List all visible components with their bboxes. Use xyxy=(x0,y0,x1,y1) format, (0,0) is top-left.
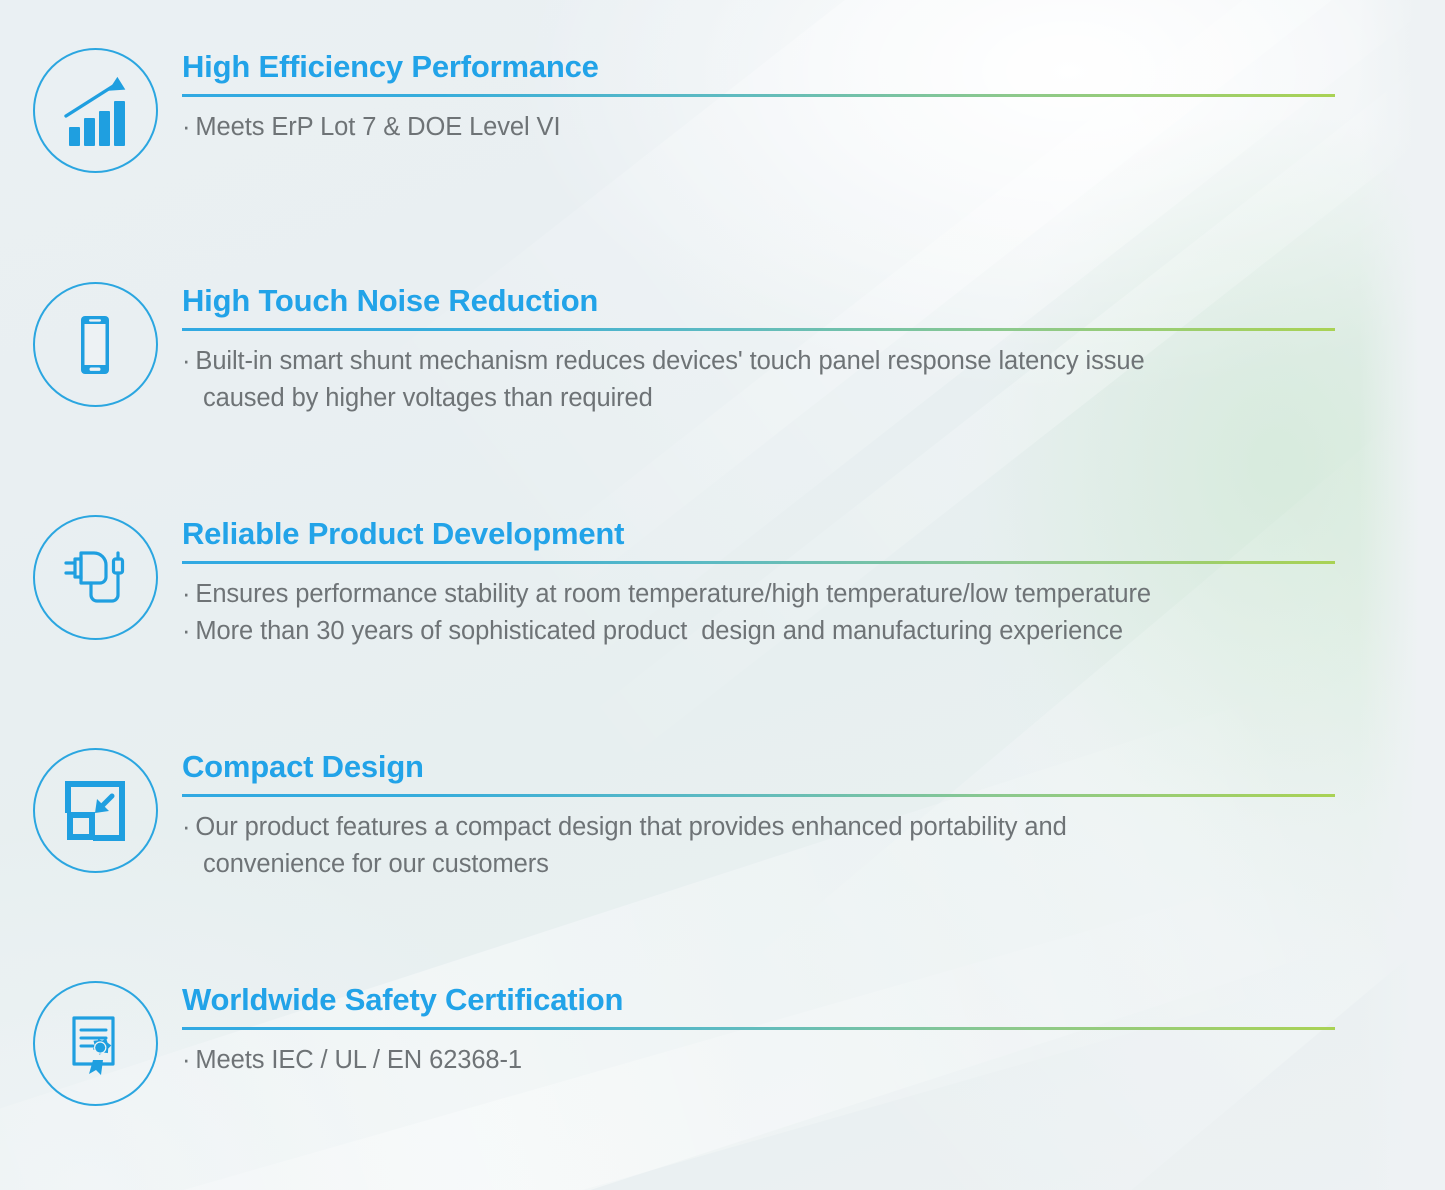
feature-title: High Touch Noise Reduction xyxy=(182,284,1365,319)
bar-chart-growth-icon xyxy=(33,48,158,173)
feature-divider xyxy=(182,328,1335,331)
feature-bullets: ·Built-in smart shunt mechanism reduces … xyxy=(182,341,1365,418)
bullet-marker: · xyxy=(182,617,190,645)
feature-list: High Efficiency Performance ·Meets ErP L… xyxy=(0,0,1445,1190)
feature-icon-container xyxy=(0,515,182,640)
feature-divider xyxy=(182,561,1335,564)
feature-bullets: ·Meets ErP Lot 7 & DOE Level VI xyxy=(182,107,1365,147)
feature-icon-container xyxy=(0,748,182,873)
feature-body: Compact Design ·Our product features a c… xyxy=(182,748,1445,884)
bullet-item: ·Ensures performance stability at room t… xyxy=(182,576,1365,614)
bullet-text: Built-in smart shunt mechanism reduces d… xyxy=(182,347,1145,413)
smartphone-icon xyxy=(33,282,158,407)
feature-divider xyxy=(182,1027,1335,1030)
feature-bullets: ·Ensures performance stability at room t… xyxy=(182,574,1365,651)
feature-bullets: ·Meets IEC / UL / EN 62368-1 xyxy=(182,1040,1365,1080)
feature-title: Reliable Product Development xyxy=(182,517,1365,552)
feature-body: Worldwide Safety Certification ·Meets IE… xyxy=(182,981,1445,1079)
bullet-marker: · xyxy=(182,580,190,608)
feature-icon-container xyxy=(0,282,182,407)
feature-bullets: ·Our product features a compact design t… xyxy=(182,807,1365,884)
feature-title: Worldwide Safety Certification xyxy=(182,983,1365,1018)
bullet-item: ·Built-in smart shunt mechanism reduces … xyxy=(182,343,1365,418)
bullet-marker: · xyxy=(182,813,190,841)
bullet-text: Meets ErP Lot 7 & DOE Level VI xyxy=(195,113,560,141)
feature-title: High Efficiency Performance xyxy=(182,50,1365,85)
feature-icon-container xyxy=(0,981,182,1106)
feature-body: Reliable Product Development ·Ensures pe… xyxy=(182,515,1445,651)
bullet-item: ·More than 30 years of sophisticated pro… xyxy=(182,613,1365,651)
feature-row-high-touch-noise-reduction: High Touch Noise Reduction ·Built-in sma… xyxy=(0,282,1445,418)
bullet-text: Our product features a compact design th… xyxy=(182,813,1067,879)
feature-row-reliable-product-development: Reliable Product Development ·Ensures pe… xyxy=(0,515,1445,651)
feature-title: Compact Design xyxy=(182,750,1365,785)
feature-row-compact-design: Compact Design ·Our product features a c… xyxy=(0,748,1445,884)
bullet-marker: · xyxy=(182,1046,190,1074)
bullet-text: Ensures performance stability at room te… xyxy=(195,580,1151,608)
bullet-item: ·Meets IEC / UL / EN 62368-1 xyxy=(182,1042,1365,1080)
bullet-text: More than 30 years of sophisticated prod… xyxy=(195,617,1123,645)
certificate-seal-icon xyxy=(33,981,158,1106)
feature-row-worldwide-safety-certification: Worldwide Safety Certification ·Meets IE… xyxy=(0,981,1445,1106)
feature-divider xyxy=(182,794,1335,797)
feature-body: High Touch Noise Reduction ·Built-in sma… xyxy=(182,282,1445,418)
bullet-marker: · xyxy=(182,113,190,141)
power-adapter-icon xyxy=(33,515,158,640)
compact-resize-icon xyxy=(33,748,158,873)
bullet-item: ·Our product features a compact design t… xyxy=(182,809,1365,884)
bullet-text: Meets IEC / UL / EN 62368-1 xyxy=(195,1046,522,1074)
bullet-marker: · xyxy=(182,347,190,375)
feature-row-high-efficiency-performance: High Efficiency Performance ·Meets ErP L… xyxy=(0,48,1445,173)
bullet-item: ·Meets ErP Lot 7 & DOE Level VI xyxy=(182,109,1365,147)
feature-divider xyxy=(182,94,1335,97)
feature-body: High Efficiency Performance ·Meets ErP L… xyxy=(182,48,1445,146)
feature-icon-container xyxy=(0,48,182,173)
